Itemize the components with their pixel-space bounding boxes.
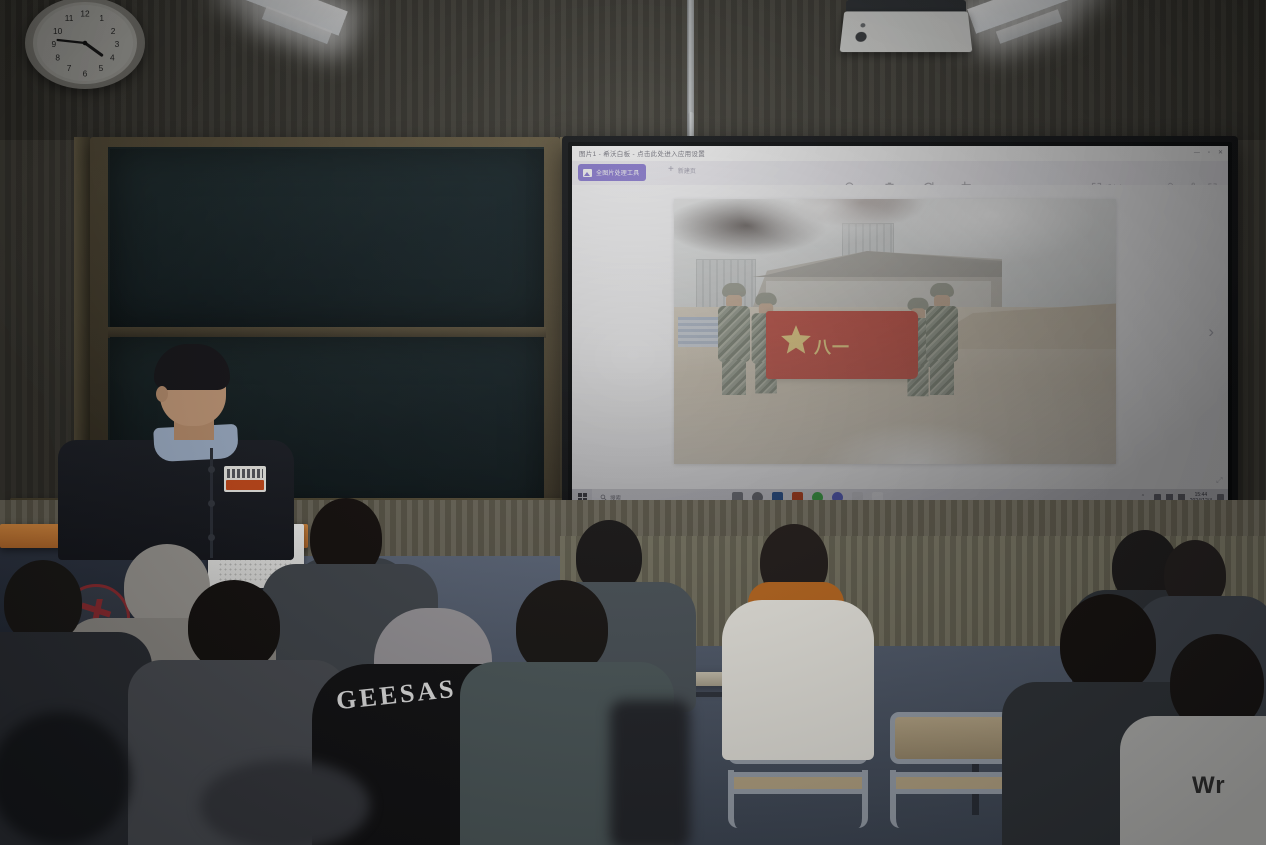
foreground-student (610, 700, 690, 845)
jacket-graphic-text: Wr (1192, 772, 1226, 800)
presenter-hair (154, 344, 230, 390)
jacket-button (208, 466, 215, 473)
foreground-student (200, 760, 370, 845)
student (736, 524, 856, 694)
classroom-scene: 1212 345 678 91011 (0, 0, 1266, 845)
presenter-ear (156, 386, 168, 402)
jacket-button (208, 534, 215, 541)
jacket-button (208, 500, 215, 507)
badge-text-line (227, 469, 263, 478)
badge-emblem (226, 480, 264, 490)
student-with-jacket: Wr (1130, 634, 1266, 845)
student-torso (722, 600, 874, 760)
chair-legs (728, 770, 868, 828)
chest-badge (224, 466, 266, 492)
student-head (188, 580, 280, 672)
